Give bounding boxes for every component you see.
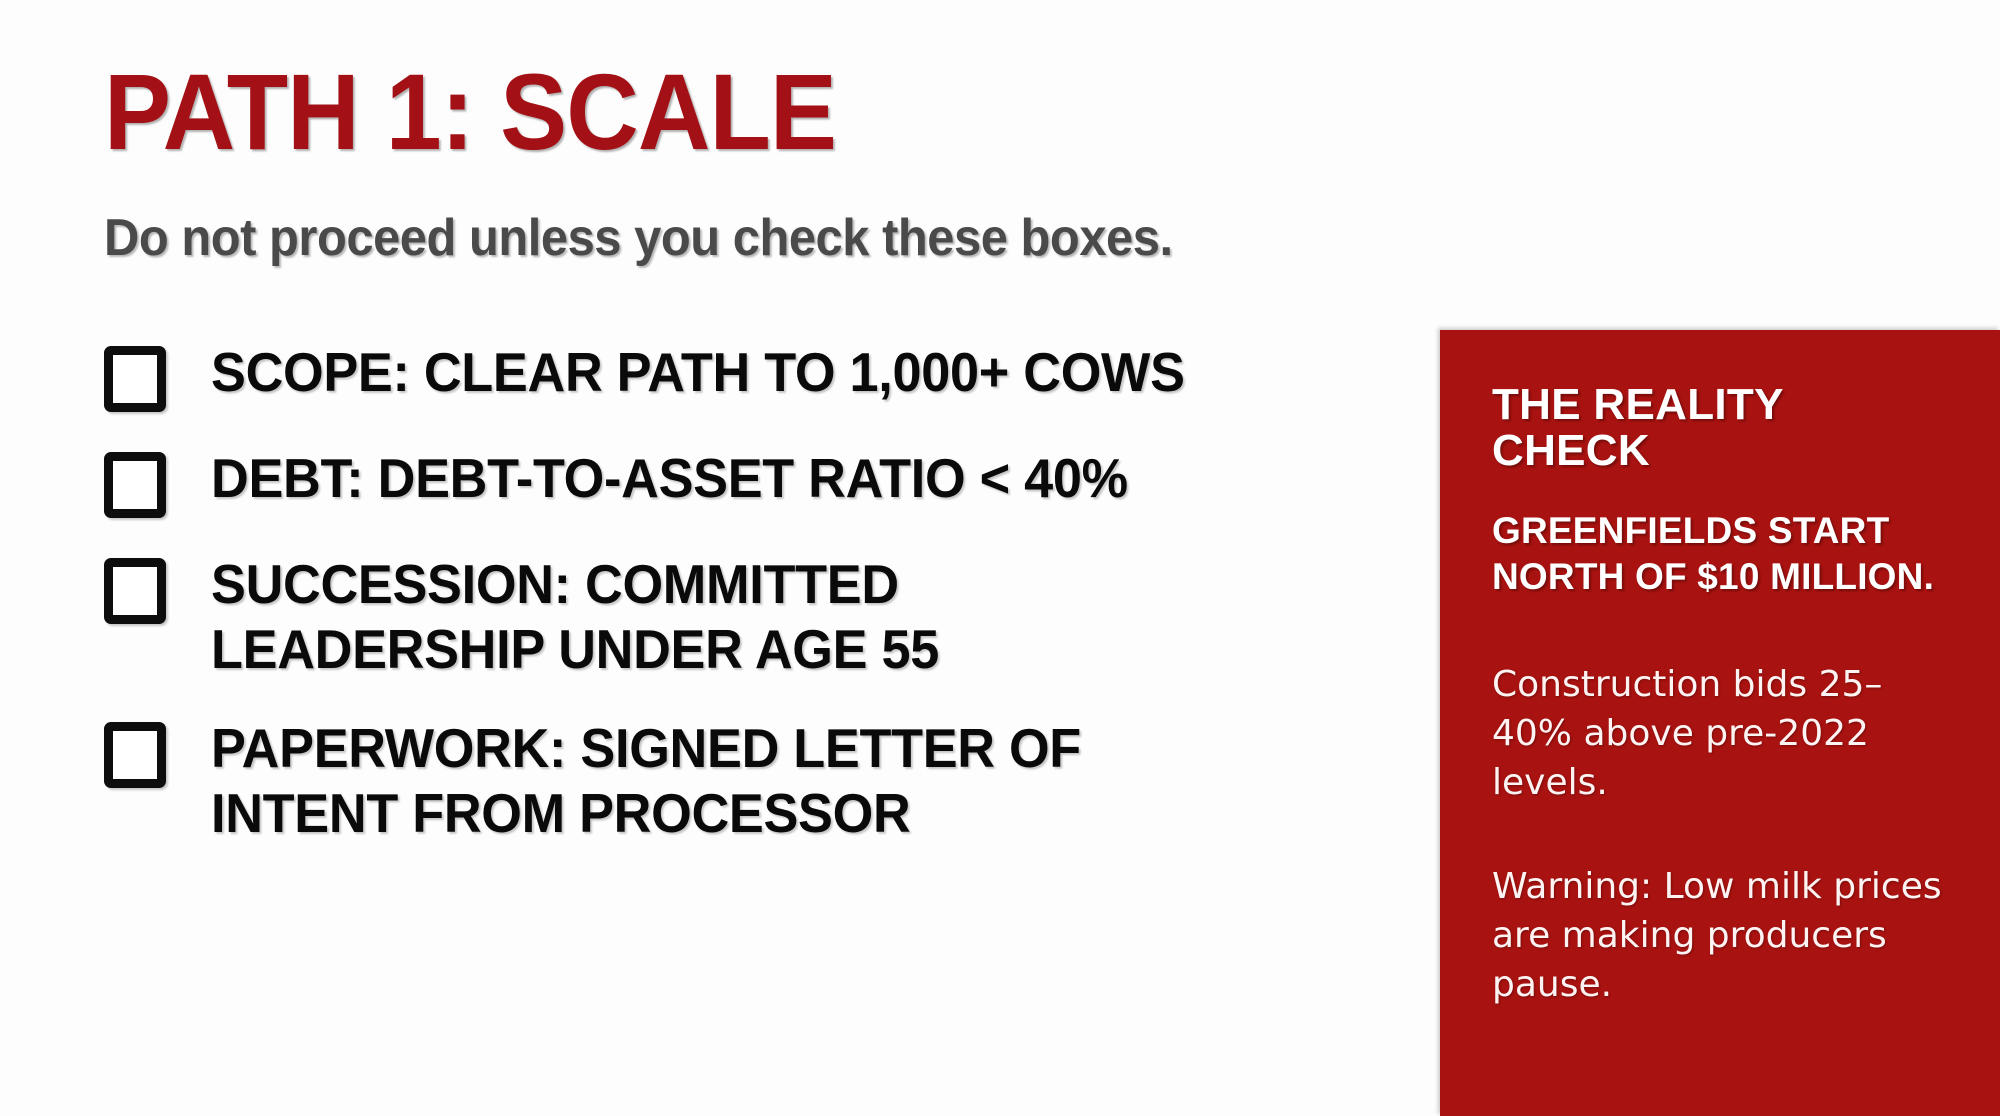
checkbox-icon[interactable] xyxy=(104,722,166,788)
checklist-item-label: DEBT: DEBT-TO-ASSET RATIO < 40% xyxy=(211,446,1128,511)
checkbox-icon[interactable] xyxy=(104,558,166,624)
requirements-checklist: SCOPE: CLEAR PATH TO 1,000+ COWS DEBT: D… xyxy=(104,340,1424,880)
list-item[interactable]: DEBT: DEBT-TO-ASSET RATIO < 40% xyxy=(104,446,1424,518)
left-content-column: PATH 1: SCALE Do not proceed unless you … xyxy=(104,0,1424,1116)
list-item[interactable]: SCOPE: CLEAR PATH TO 1,000+ COWS xyxy=(104,340,1424,412)
list-item[interactable]: SUCCESSION: COMMITTED LEADERSHIP UNDER A… xyxy=(104,552,1424,682)
checklist-item-label: SCOPE: CLEAR PATH TO 1,000+ COWS xyxy=(211,340,1185,405)
list-item[interactable]: PAPERWORK: SIGNED LETTER OF INTENT FROM … xyxy=(104,716,1424,846)
reality-check-heading: THE REALITY CHECK xyxy=(1492,382,1952,474)
reality-check-subheading: GREENFIELDS START NORTH OF $10 MILLION. xyxy=(1492,508,1952,598)
reality-check-paragraph-warning: Warning: Low milk prices are making prod… xyxy=(1492,863,1952,1010)
checklist-item-label: SUCCESSION: COMMITTED LEADERSHIP UNDER A… xyxy=(211,552,939,682)
checkbox-icon[interactable] xyxy=(104,452,166,518)
page-subtitle: Do not proceed unless you check these bo… xyxy=(104,212,1173,264)
checkbox-icon[interactable] xyxy=(104,346,166,412)
checklist-item-label: PAPERWORK: SIGNED LETTER OF INTENT FROM … xyxy=(211,716,1081,846)
page-title: PATH 1: SCALE xyxy=(104,58,836,166)
reality-check-panel: THE REALITY CHECK GREENFIELDS START NORT… xyxy=(1440,330,2000,1116)
reality-check-paragraph-construction: Construction bids 25–40% above pre-2022 … xyxy=(1492,661,1952,808)
slide-canvas: PATH 1: SCALE Do not proceed unless you … xyxy=(0,0,2000,1116)
